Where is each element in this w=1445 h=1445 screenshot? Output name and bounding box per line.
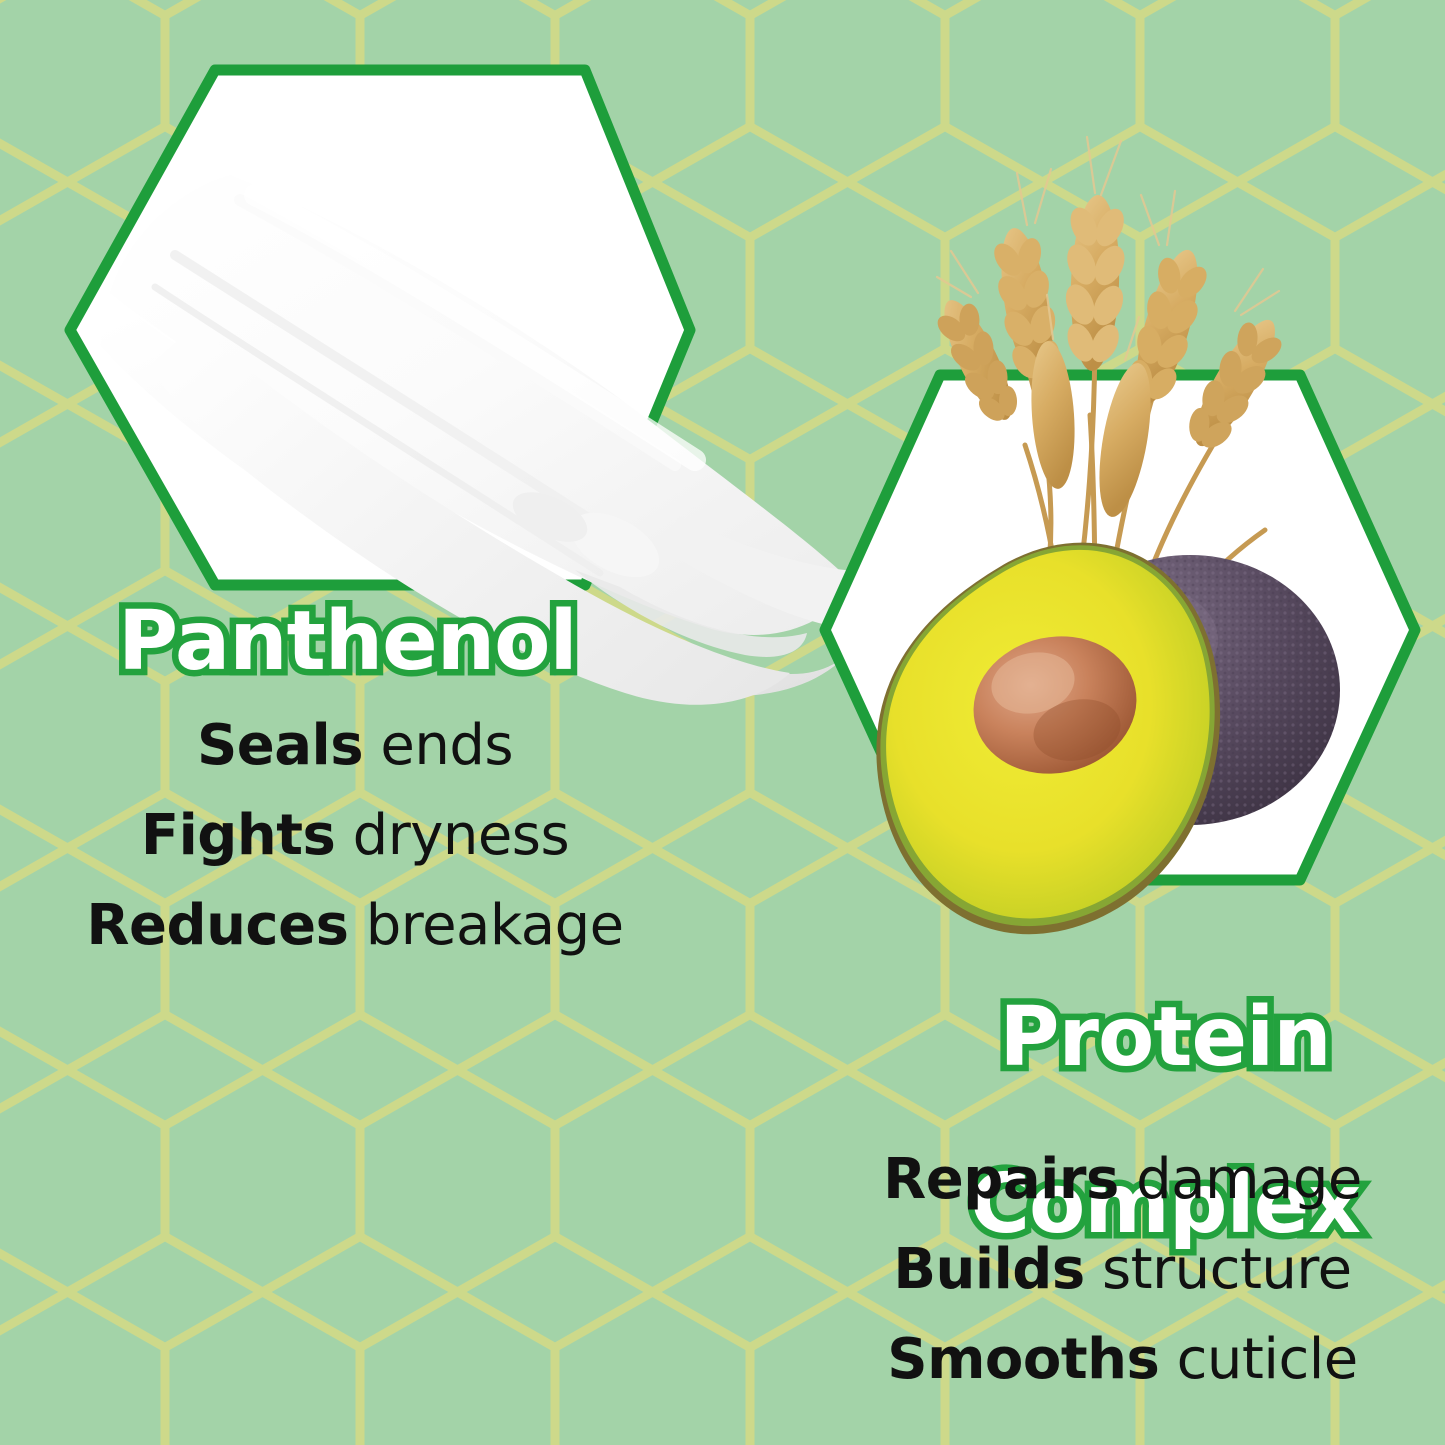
benefit-rest: damage	[1119, 1147, 1362, 1212]
benefit-rest: ends	[363, 713, 513, 778]
benefit-line: Seals ends	[20, 718, 690, 774]
benefit-lead: Repairs	[883, 1147, 1119, 1212]
benefit-line: Reduces breakage	[20, 898, 690, 954]
protein-complex-benefits-list: Repairs damage Builds structure Smooths …	[800, 1152, 1445, 1422]
protein-complex-title-line-1: Protein	[930, 996, 1400, 1080]
benefit-line: Builds structure	[800, 1242, 1445, 1298]
panthenol-hex-card	[55, 25, 755, 625]
benefit-rest: dryness	[335, 803, 569, 868]
panthenol-benefits-list: Seals ends Fights dryness Reduces breaka…	[20, 718, 690, 988]
benefit-lead: Fights	[141, 803, 336, 868]
benefit-rest: breakage	[348, 893, 623, 958]
ingredient-benefits-infographic: Panthenol Seals ends Fights dryness Redu…	[0, 0, 1445, 1445]
panthenol-title: Panthenol	[118, 600, 577, 684]
benefit-lead: Seals	[197, 713, 363, 778]
protein-complex-hex-card	[795, 275, 1445, 955]
benefit-lead: Builds	[893, 1237, 1084, 1302]
benefit-lead: Reduces	[86, 893, 348, 958]
benefit-line: Fights dryness	[20, 808, 690, 864]
benefit-lead: Smooths	[887, 1327, 1159, 1392]
benefit-rest: cuticle	[1159, 1327, 1357, 1392]
benefit-line: Smooths cuticle	[800, 1332, 1445, 1388]
benefit-rest: structure	[1085, 1237, 1352, 1302]
benefit-line: Repairs damage	[800, 1152, 1445, 1208]
